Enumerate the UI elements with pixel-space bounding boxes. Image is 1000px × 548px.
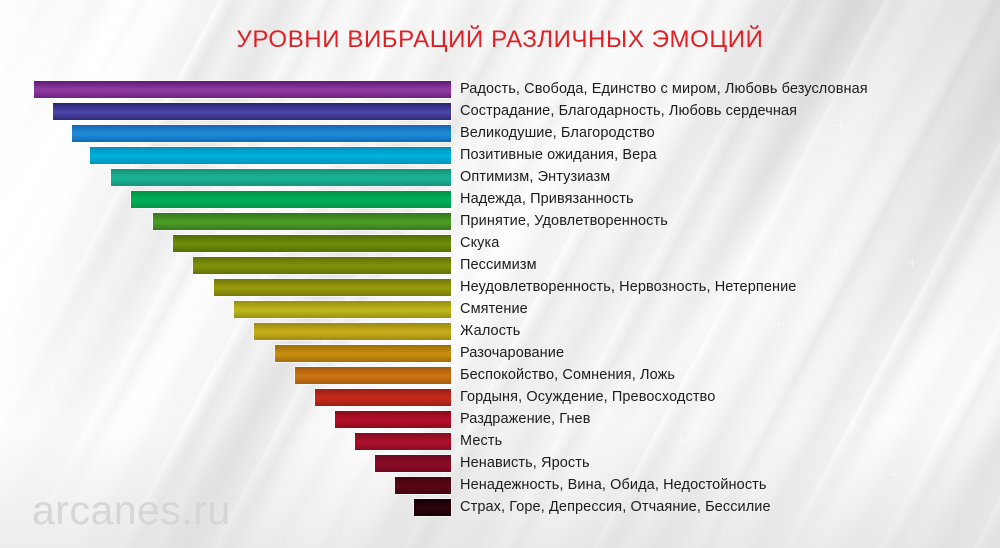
bar-row: Разочарование <box>0 344 1000 366</box>
bar <box>152 212 452 231</box>
bar-label: Пессимизм <box>460 255 537 275</box>
bar-fill <box>173 235 451 252</box>
bar-label: Сострадание, Благодарность, Любовь серде… <box>460 101 797 121</box>
bar-fill <box>72 125 451 142</box>
bar-label: Смятение <box>460 299 528 319</box>
bar-label: Принятие, Удовлетворенность <box>460 211 668 231</box>
bar-row: Неудовлетворенность, Нервозность, Нетерп… <box>0 278 1000 300</box>
bar-label: Раздражение, Гнев <box>460 409 591 429</box>
bar-fill <box>111 169 451 186</box>
bar-row: Скука <box>0 234 1000 256</box>
bar-label: Позитивные ожидания, Вера <box>460 145 657 165</box>
bar-label: Ненадежность, Вина, Обида, Недостойность <box>460 475 767 495</box>
bar-row: Радость, Свобода, Единство с миром, Любо… <box>0 80 1000 102</box>
bar <box>394 476 452 495</box>
bar <box>110 168 452 187</box>
bar-label: Ненависть, Ярость <box>460 453 590 473</box>
bar <box>130 190 452 209</box>
bar <box>354 432 452 451</box>
bar-fill <box>153 213 451 230</box>
bar <box>33 80 452 99</box>
vibration-levels-chart-page: УРОВНИ ВИБРАЦИЙ РАЗЛИЧНЫХ ЭМОЦИЙ Радость… <box>0 0 1000 548</box>
bar-fill <box>395 477 451 494</box>
bar-label: Надежда, Привязанность <box>460 189 634 209</box>
bar-row: Месть <box>0 432 1000 454</box>
bar-label: Оптимизм, Энтузиазм <box>460 167 610 187</box>
bar-label: Жалость <box>460 321 520 341</box>
bar-label: Страх, Горе, Депрессия, Отчаяние, Бессил… <box>460 497 771 517</box>
bar <box>253 322 452 341</box>
bar-label: Великодушие, Благородство <box>460 123 655 143</box>
bar-row: Сострадание, Благодарность, Любовь серде… <box>0 102 1000 124</box>
bar <box>172 234 452 253</box>
bar-row: Смятение <box>0 300 1000 322</box>
bar-label: Гордыня, Осуждение, Превосходство <box>460 387 715 407</box>
bar-fill <box>131 191 451 208</box>
watermark: arcanes.ru <box>32 487 231 534</box>
bar-row: Оптимизм, Энтузиазм <box>0 168 1000 190</box>
bar-row: Великодушие, Благородство <box>0 124 1000 146</box>
bar-fill <box>355 433 451 450</box>
bar-fill <box>414 499 451 516</box>
bar-row: Раздражение, Гнев <box>0 410 1000 432</box>
bar <box>314 388 452 407</box>
bar-chart: Радость, Свобода, Единство с миром, Любо… <box>0 0 1000 548</box>
bar <box>413 498 452 517</box>
bar-fill <box>275 345 451 362</box>
bar-fill <box>315 389 451 406</box>
bar-label: Разочарование <box>460 343 564 363</box>
bar-fill <box>53 103 451 120</box>
bar <box>213 278 452 297</box>
bar-row: Надежда, Привязанность <box>0 190 1000 212</box>
bar-fill <box>90 147 451 164</box>
bar-fill <box>375 455 451 472</box>
bar-label: Месть <box>460 431 502 451</box>
bar-fill <box>34 81 451 98</box>
bar <box>233 300 452 319</box>
bar <box>274 344 452 363</box>
bar-fill <box>234 301 451 318</box>
bar <box>89 146 452 165</box>
bar-fill <box>254 323 451 340</box>
bar <box>334 410 452 429</box>
bar-fill <box>193 257 451 274</box>
bar-label: Скука <box>460 233 499 253</box>
bar-label: Неудовлетворенность, Нервозность, Нетерп… <box>460 277 796 297</box>
bar-label: Беспокойство, Сомнения, Ложь <box>460 365 675 385</box>
bar <box>52 102 452 121</box>
bar-row: Беспокойство, Сомнения, Ложь <box>0 366 1000 388</box>
bar <box>374 454 452 473</box>
bar-fill <box>295 367 451 384</box>
bar <box>192 256 452 275</box>
bar-row: Принятие, Удовлетворенность <box>0 212 1000 234</box>
bar-fill <box>335 411 451 428</box>
bar-row: Жалость <box>0 322 1000 344</box>
bar <box>294 366 452 385</box>
bar-row: Гордыня, Осуждение, Превосходство <box>0 388 1000 410</box>
bar-row: Позитивные ожидания, Вера <box>0 146 1000 168</box>
bar-fill <box>214 279 451 296</box>
bar-row: Пессимизм <box>0 256 1000 278</box>
bar <box>71 124 452 143</box>
bar-row: Ненависть, Ярость <box>0 454 1000 476</box>
bar-label: Радость, Свобода, Единство с миром, Любо… <box>460 79 868 99</box>
